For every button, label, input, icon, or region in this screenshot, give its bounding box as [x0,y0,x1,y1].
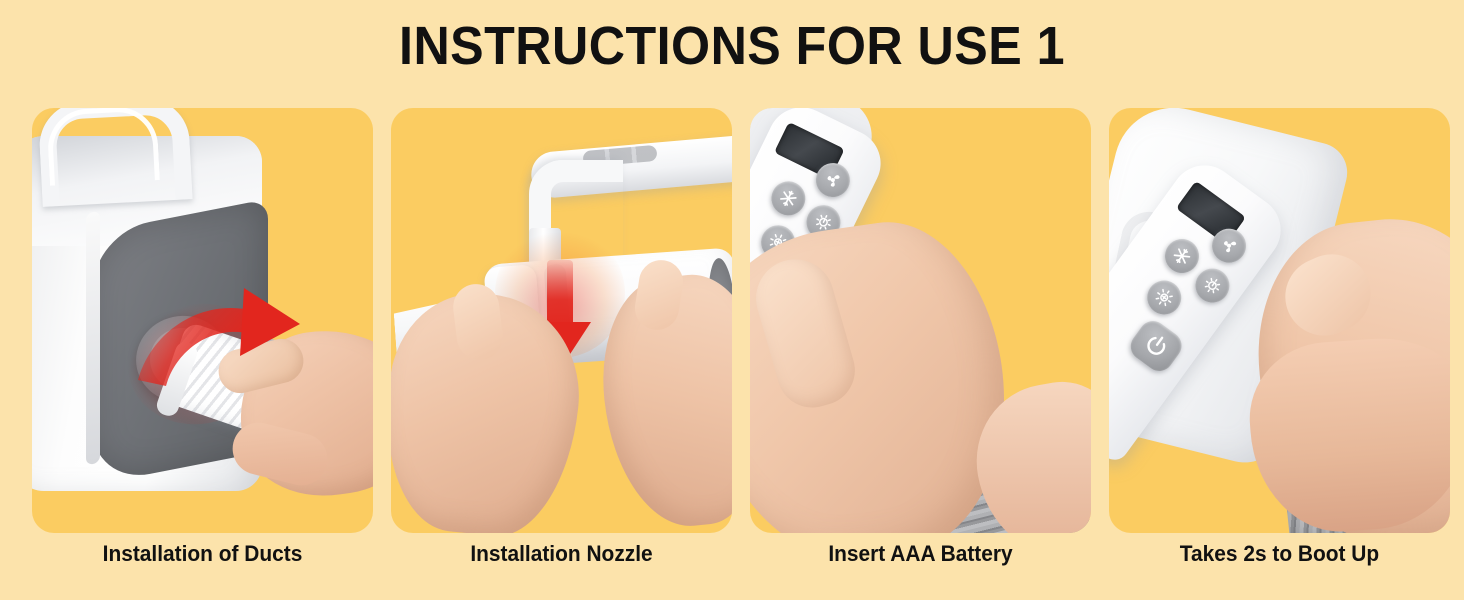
fan-icon [1215,232,1243,260]
captions-row: Installation of Ducts Installation Nozzl… [32,541,1432,581]
infographic-page: INSTRUCTIONS FOR USE 1 [0,0,1464,600]
heat-mode-button[interactable] [1140,274,1187,321]
snowflake-icon [775,185,802,212]
caption-step-4: Takes 2s to Boot Up [1118,541,1442,581]
curved-insert-arrow [132,276,322,416]
caption-step-3: Insert AAA Battery [759,541,1083,581]
step-panel-3: HEAT HEAT [750,108,1091,533]
dryer-face-edge [86,211,100,466]
duct-installation-photo [32,108,373,533]
cool-mode-button[interactable] [1158,232,1205,279]
power-icon [1138,328,1174,364]
gripping-fingers [1245,333,1450,533]
fan-icon [820,167,847,194]
power-button[interactable] [1125,316,1187,377]
temperature-button[interactable] [1189,262,1236,309]
page-title: INSTRUCTIONS FOR USE 1 [51,18,1413,75]
caption-step-2: Installation Nozzle [400,541,724,581]
heat-sun-icon [1150,284,1178,312]
nozzle-installation-photo [391,108,732,533]
snowflake-icon [1168,242,1196,270]
step-panel-2 [391,108,732,533]
carry-handle-highlight [46,108,160,186]
cool-mode-button[interactable] [766,176,811,221]
step-panel-1 [32,108,373,533]
step-panel-4 [1109,108,1450,533]
caption-step-1: Installation of Ducts [41,541,365,581]
boot-up-photo [1109,108,1450,533]
steps-gallery: HEAT HEAT [32,108,1432,533]
battery-insert-photo: HEAT HEAT [750,108,1091,533]
sun-dial-icon [1198,272,1226,300]
